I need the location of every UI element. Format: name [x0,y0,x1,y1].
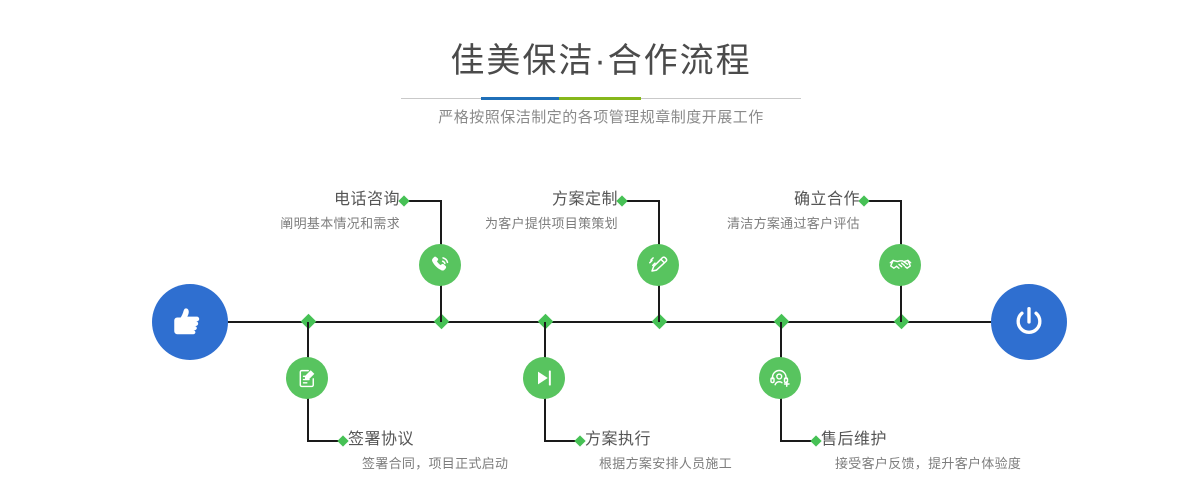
step-5-icon-badge[interactable] [879,244,921,286]
infographic-page: 佳美保洁·合作流程 严格按照保洁制定的各项管理规章制度开展工作 [0,0,1202,502]
phone-call-icon [428,253,452,277]
step-6-desc: 接受客户反馈，提升客户体验度 [835,454,1151,474]
step-1-label: 电话咨询 阐明基本情况和需求 [160,189,400,234]
step-3-icon-badge[interactable] [637,244,679,286]
step-2-icon-badge[interactable] [286,357,328,399]
process-timeline: 电话咨询 阐明基本情况和需求 方案定制 为客户提供 [0,0,1202,502]
plan-pencil-icon [646,253,670,277]
step-6-label: 售后维护 接受客户反馈，提升客户体验度 [821,429,1151,474]
step-5-horizontal-line [867,200,901,202]
pointing-hand-icon [169,301,211,343]
step-5-tip-dot [858,195,869,206]
step-6-horizontal-line [780,440,814,442]
step-4-horizontal-line [544,440,578,442]
step-4-icon-badge[interactable] [523,357,565,399]
document-edit-icon [296,367,319,390]
step-6-icon-badge[interactable] [759,357,801,399]
step-1-icon-badge[interactable] [419,244,461,286]
step-2-horizontal-line [307,440,341,442]
step-5-title: 确立合作 [620,189,860,211]
step-3-label: 方案定制 为客户提供项目策策划 [378,189,618,234]
step-2-tip-dot [337,435,348,446]
customer-service-add-icon [768,366,792,390]
handshake-icon [888,253,913,278]
step-1-desc: 阐明基本情况和需求 [160,214,400,234]
step-5-label: 确立合作 清洁方案通过客户评估 [620,189,860,234]
step-5-desc: 清洁方案通过客户评估 [620,214,860,234]
timeline-start-endpoint [152,284,228,360]
step-3-title: 方案定制 [378,189,618,211]
timeline-end-endpoint [991,284,1067,360]
play-execute-icon [532,366,556,390]
step-1-title: 电话咨询 [160,189,400,211]
step-6-title: 售后维护 [821,429,1151,451]
power-icon [1009,302,1049,342]
step-3-desc: 为客户提供项目策策划 [378,214,618,234]
